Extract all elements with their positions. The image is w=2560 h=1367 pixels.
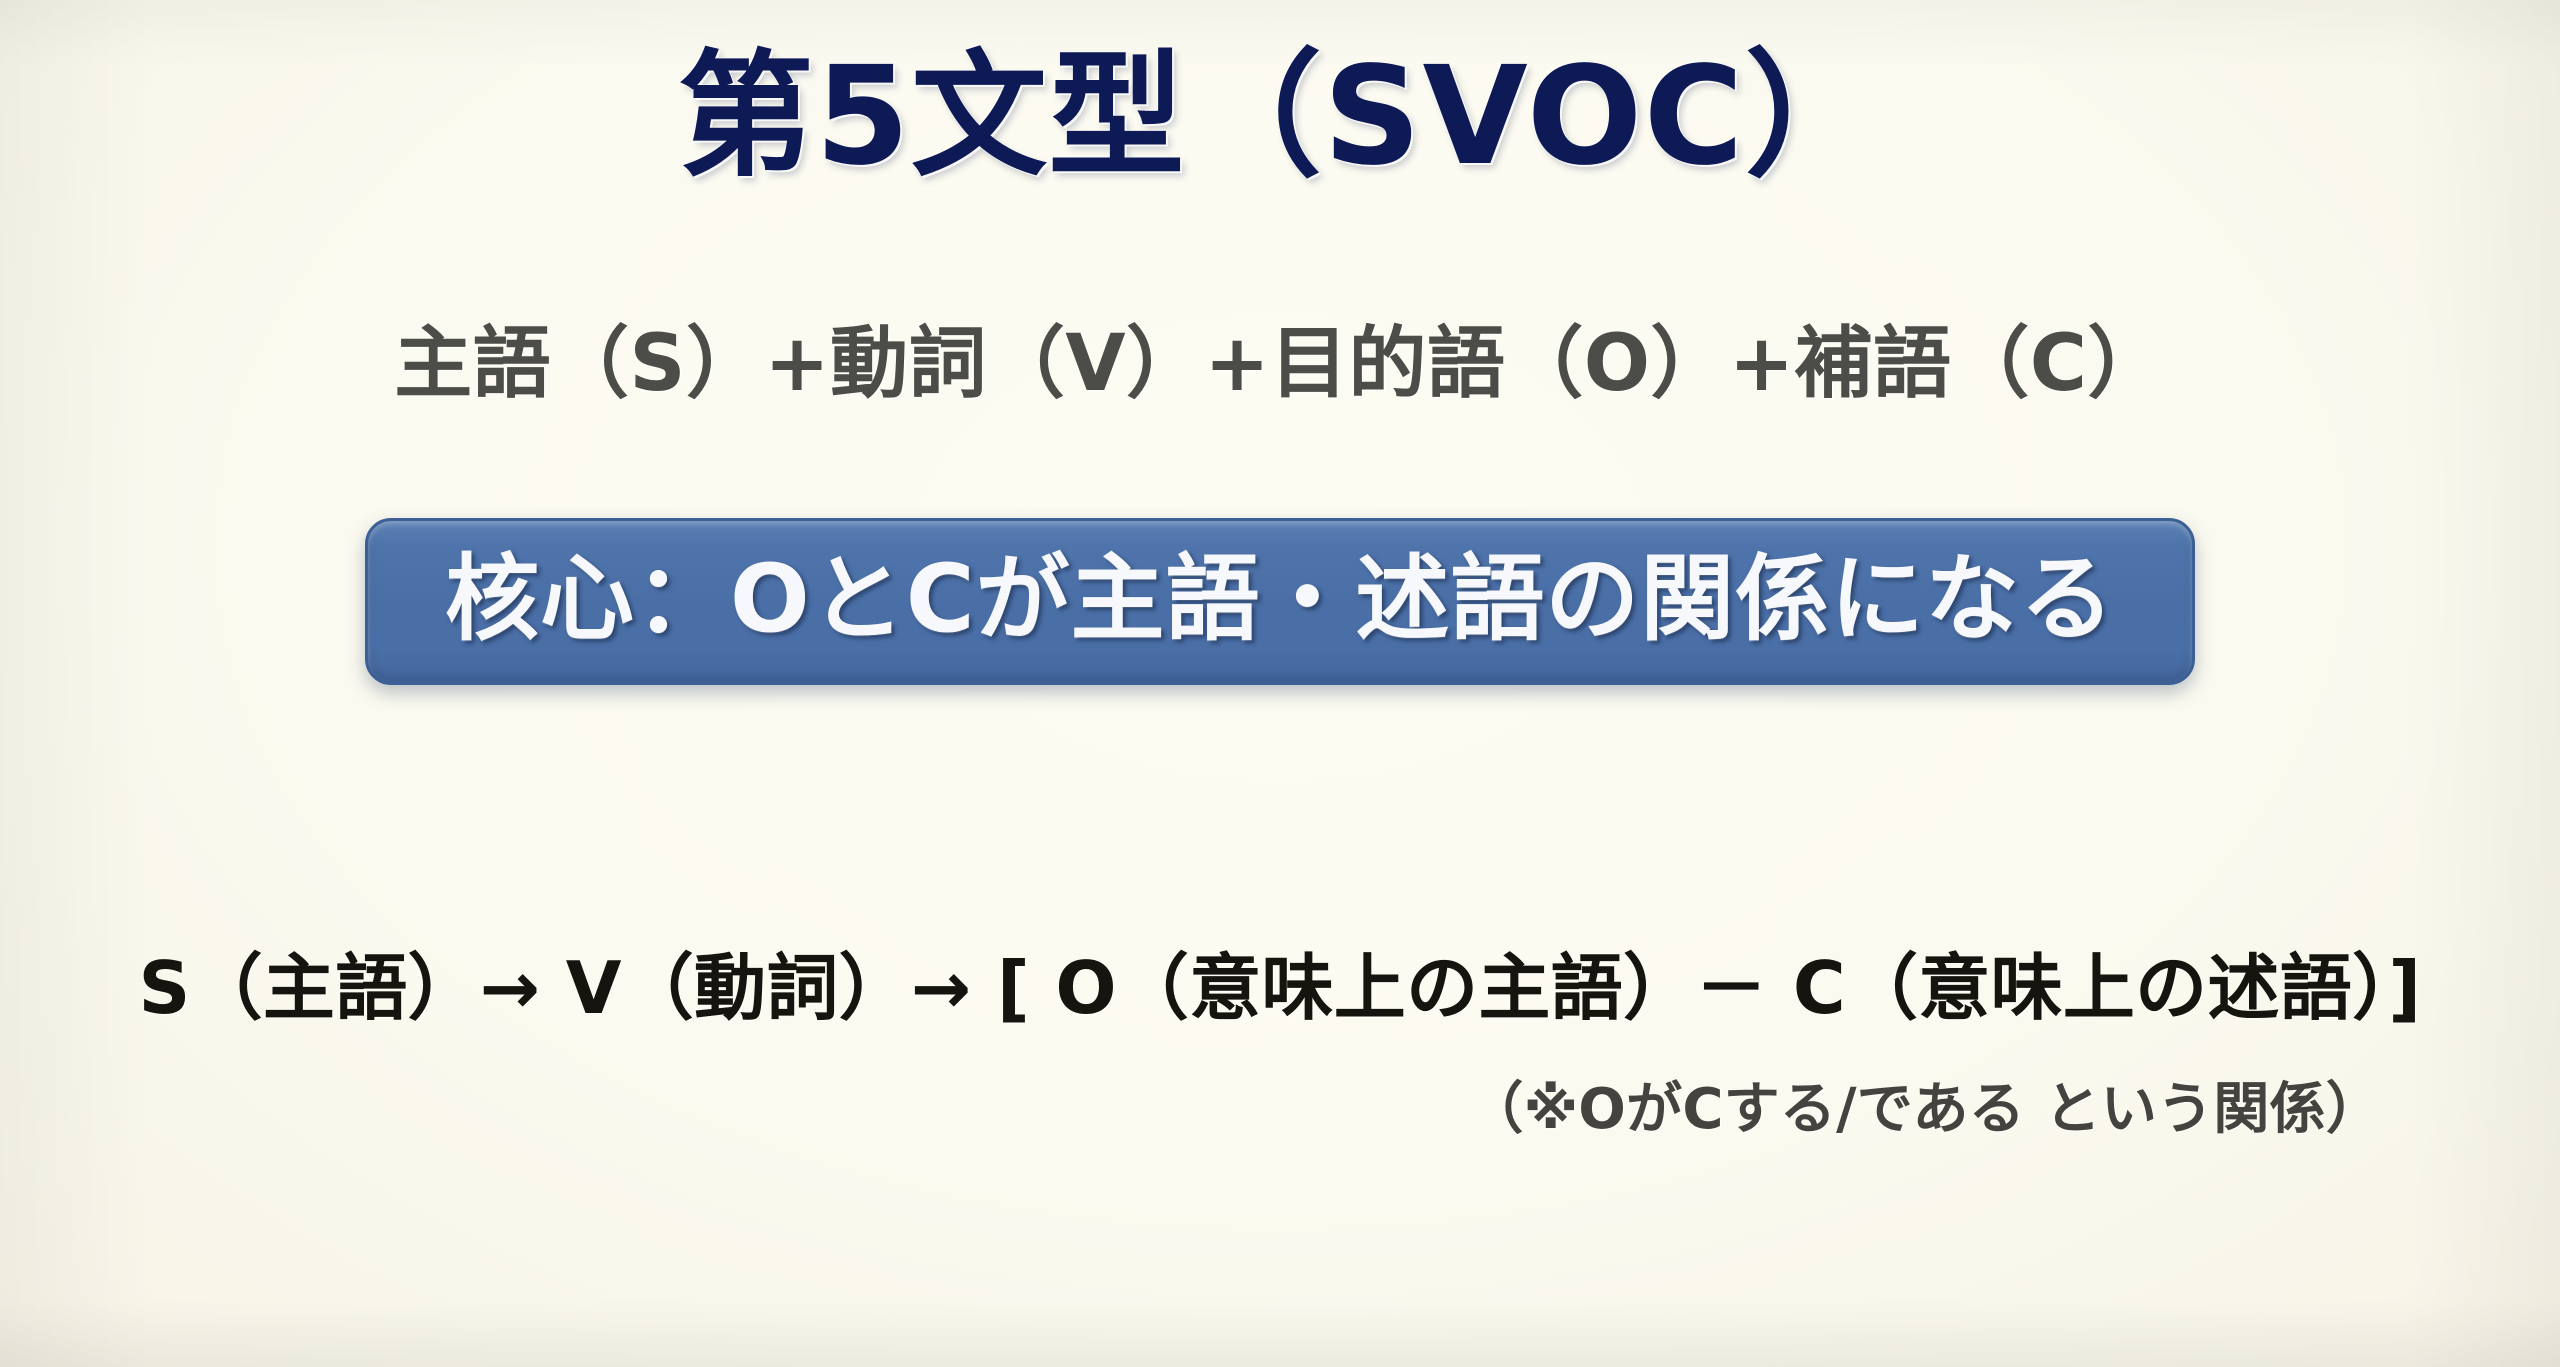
- footnote-line: （※OがCする/である という関係）: [0, 1078, 2560, 1142]
- footnote-line-text: （※OがCする/である という関係）: [1467, 1078, 2382, 1142]
- page-title: 第5文型（SVOC）: [0, 46, 2560, 189]
- page-title-text: 第5文型（SVOC）: [678, 46, 1882, 189]
- page-subtitle: 主語（S）+動詞（V）+目的語（O）+補語（C）: [0, 322, 2560, 408]
- key-point-banner-wrap: 核心：OとCが主語・述語の関係になる: [0, 518, 2560, 685]
- slide-canvas: 第5文型（SVOC） 主語（S）+動詞（V）+目的語（O）+補語（C） 核心：O…: [0, 0, 2560, 1367]
- key-point-banner-text: 核心：OとCが主語・述語の関係になる: [445, 547, 2115, 652]
- formula-line: S（主語）→ V（動詞）→ [ O（意味上の主語）－ C（意味上の述語）]: [0, 948, 2560, 1029]
- key-point-banner: 核心：OとCが主語・述語の関係になる: [365, 518, 2195, 685]
- page-subtitle-text: 主語（S）+動詞（V）+目的語（O）+補語（C）: [394, 322, 2166, 408]
- formula-line-text: S（主語）→ V（動詞）→ [ O（意味上の主語）－ C（意味上の述語）]: [138, 948, 2421, 1029]
